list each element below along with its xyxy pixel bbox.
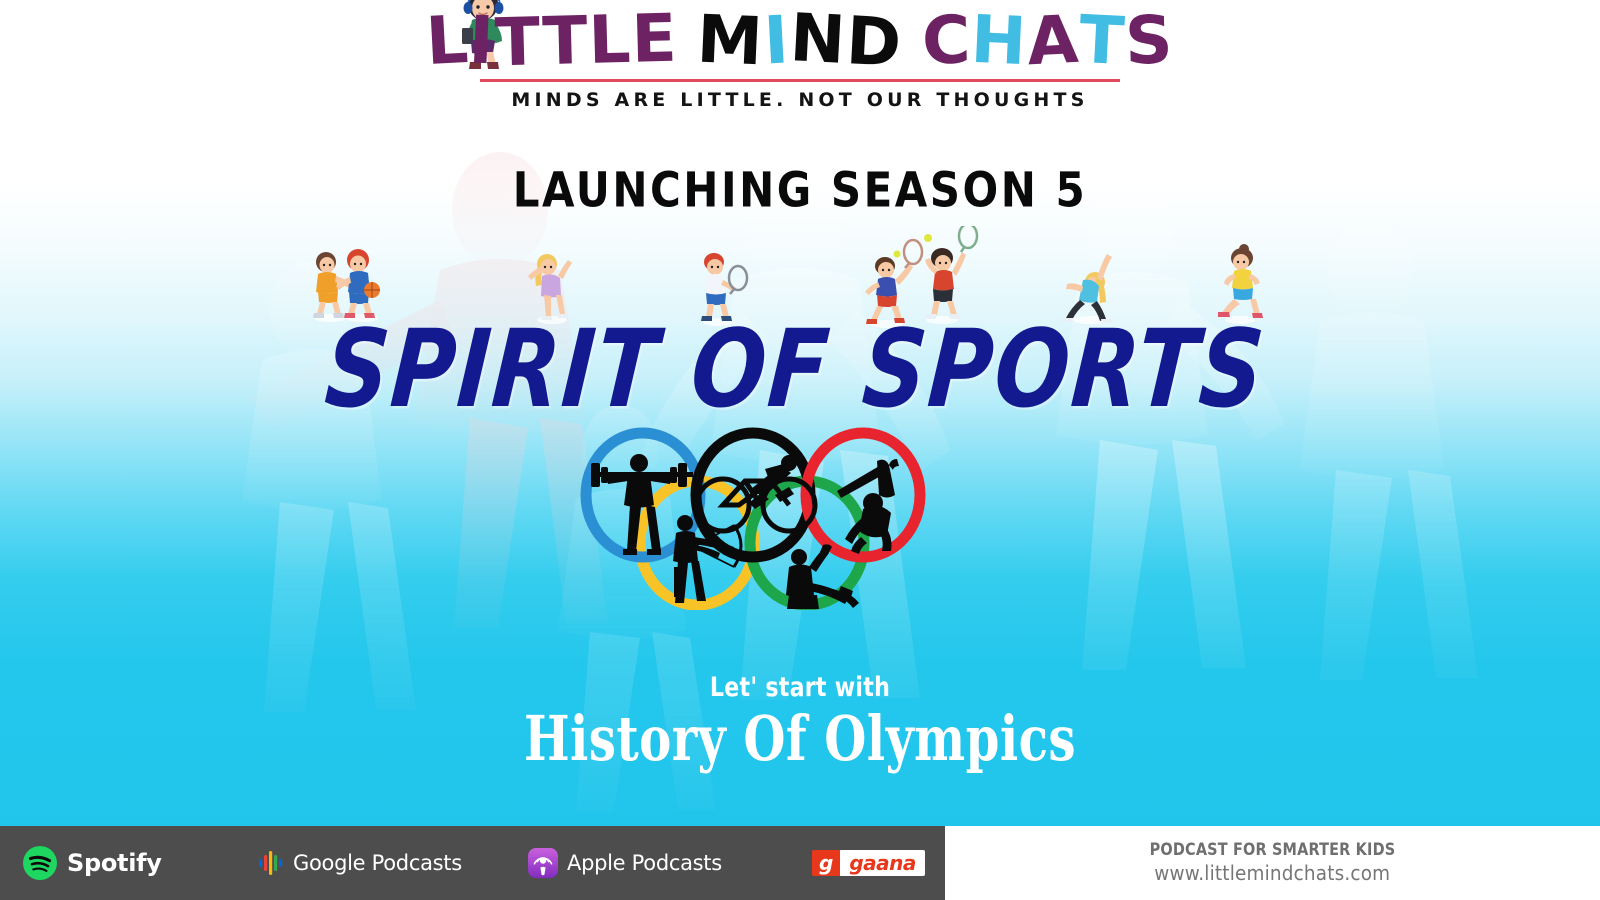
logo-letter: L: [424, 5, 471, 76]
olympic-rings-graphic: [575, 425, 975, 610]
google-podcasts-label: Google Podcasts: [293, 851, 462, 875]
google-podcasts-platform[interactable]: Google Podcasts: [258, 849, 462, 877]
gaana-platform[interactable]: g gaana: [812, 850, 925, 876]
footer-website-block: PODCAST FOR SMARTER KIDS www.littlemindc…: [945, 826, 1600, 900]
gaana-logo: g gaana: [812, 850, 925, 876]
logo-letter: M: [696, 5, 766, 77]
logo-letter: ND: [788, 3, 904, 78]
logo-letter: C: [921, 5, 972, 76]
launching-headline: LAUNCHING SEASON 5: [0, 162, 1600, 218]
gaana-g-mark: g: [812, 850, 840, 876]
logo-letter: S: [1125, 5, 1175, 76]
logo-letter: I: [762, 5, 791, 76]
logo-letter: T: [1078, 5, 1128, 77]
apple-podcasts-icon: [528, 848, 558, 878]
google-podcasts-icon: [258, 849, 284, 877]
season-title: SPIRIT OF SPORTS: [0, 306, 1600, 432]
footer-tagline: PODCAST FOR SMARTER KIDS: [1150, 840, 1396, 861]
brand-logo-wordmark: LITTLEMINDCHATS: [426, 6, 1174, 75]
footer-website-url[interactable]: www.littlemindchats.com: [1154, 861, 1390, 886]
episode-lead-in: Let' start with: [144, 672, 1456, 703]
episode-title: History Of Olympics: [176, 702, 1424, 775]
apple-podcasts-label: Apple Podcasts: [567, 851, 722, 875]
logo-letter: TTLE: [494, 4, 678, 78]
logo-letter: I: [468, 5, 497, 75]
apple-podcasts-platform[interactable]: Apple Podcasts: [528, 848, 722, 878]
footer-platform-bar: Spotify Google Podcasts: [0, 826, 945, 900]
poster-canvas: LITTLEMINDCHATS MINDS ARE LITTLE. NOT OU…: [0, 0, 1600, 900]
spotify-platform[interactable]: Spotify: [22, 845, 162, 881]
logo-letter: H: [970, 5, 1029, 77]
brand-logo: LITTLEMINDCHATS MINDS ARE LITTLE. NOT OU…: [0, 6, 1600, 111]
logo-letter: A: [1026, 5, 1082, 77]
gaana-label: gaana: [840, 850, 925, 876]
spotify-label: Spotify: [67, 849, 162, 877]
brand-tagline: MINDS ARE LITTLE. NOT OUR THOUGHTS: [0, 89, 1600, 111]
spotify-icon: [22, 845, 58, 881]
